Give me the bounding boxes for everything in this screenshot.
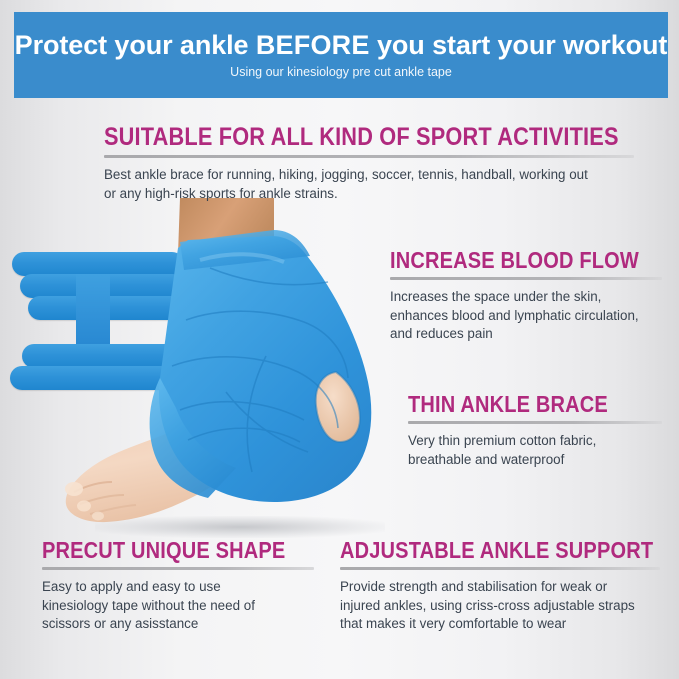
feature-body-line: injured ankles, using criss-cross adjust… — [340, 597, 660, 616]
feature-body-increase-blood-flow: Increases the space under the skin, enha… — [390, 288, 662, 344]
feature-body-line: breathable and waterproof — [408, 451, 662, 470]
feature-body-line: Increases the space under the skin, — [390, 288, 662, 307]
feature-block-increase-blood-flow: INCREASE BLOOD FLOW Increases the space … — [390, 248, 662, 344]
feature-body-line: Easy to apply and easy to use — [42, 578, 314, 597]
feature-body-line: that makes it very comfortable to wear — [340, 615, 660, 634]
feature-body-line: Very thin premium cotton fabric, — [408, 432, 662, 451]
feature-heading-precut-unique-shape: PRECUT UNIQUE SHAPE — [42, 538, 279, 562]
feature-heading-increase-blood-flow: INCREASE BLOOD FLOW — [390, 248, 627, 272]
feature-block-precut-unique-shape: PRECUT UNIQUE SHAPE Easy to apply and ea… — [42, 538, 314, 634]
banner-subtitle: Using our kinesiology pre cut ankle tape — [230, 65, 452, 79]
feature-body-precut-unique-shape: Easy to apply and easy to use kinesiolog… — [42, 578, 314, 634]
feature-divider — [390, 277, 662, 280]
feature-body-line: kinesiology tape without the need of — [42, 597, 314, 616]
feature-divider — [42, 567, 314, 570]
taped-foot-illustration — [60, 196, 400, 544]
feature-heading-thin-ankle-brace: THIN ANKLE BRACE — [408, 392, 629, 416]
banner-title-pre: Protect your ankle — [15, 30, 256, 60]
header-banner: Protect your ankle BEFORE you start your… — [14, 12, 668, 98]
feature-block-thin-ankle-brace: THIN ANKLE BRACE Very thin premium cotto… — [408, 392, 662, 469]
banner-title: Protect your ankle BEFORE you start your… — [15, 31, 668, 59]
feature-body-line: or any high-risk sports for ankle strain… — [104, 185, 634, 204]
feature-body-line: enhances blood and lymphatic circulation… — [390, 307, 662, 326]
feature-body-line: Provide strength and stabilisation for w… — [340, 578, 660, 597]
foot-drop-shadow — [95, 516, 385, 538]
feature-block-sport-activities: SUITABLE FOR ALL KIND OF SPORT ACTIVITIE… — [104, 124, 634, 203]
feature-divider — [340, 567, 660, 570]
feature-body-line: scissors or any asisstance — [42, 615, 314, 634]
feature-body-sport-activities: Best ankle brace for running, hiking, jo… — [104, 166, 634, 203]
feature-body-line: Best ankle brace for running, hiking, jo… — [104, 166, 634, 185]
feature-body-adjustable-ankle-support: Provide strength and stabilisation for w… — [340, 578, 660, 634]
banner-title-emphasis: BEFORE — [256, 30, 370, 60]
feature-divider — [408, 421, 662, 424]
feature-body-line: and reduces pain — [390, 325, 662, 344]
banner-title-post: you start your workout — [370, 30, 668, 60]
feature-block-adjustable-ankle-support: ADJUSTABLE ANKLE SUPPORT Provide strengt… — [340, 538, 660, 634]
blue-kinesiology-tape-brace — [150, 230, 372, 502]
feature-heading-sport-activities: SUITABLE FOR ALL KIND OF SPORT ACTIVITIE… — [104, 124, 565, 150]
feature-divider — [104, 155, 634, 158]
product-infographic: Protect your ankle BEFORE you start your… — [0, 0, 679, 679]
feature-body-thin-ankle-brace: Very thin premium cotton fabric, breatha… — [408, 432, 662, 469]
feature-heading-adjustable-ankle-support: ADJUSTABLE ANKLE SUPPORT — [340, 538, 618, 562]
